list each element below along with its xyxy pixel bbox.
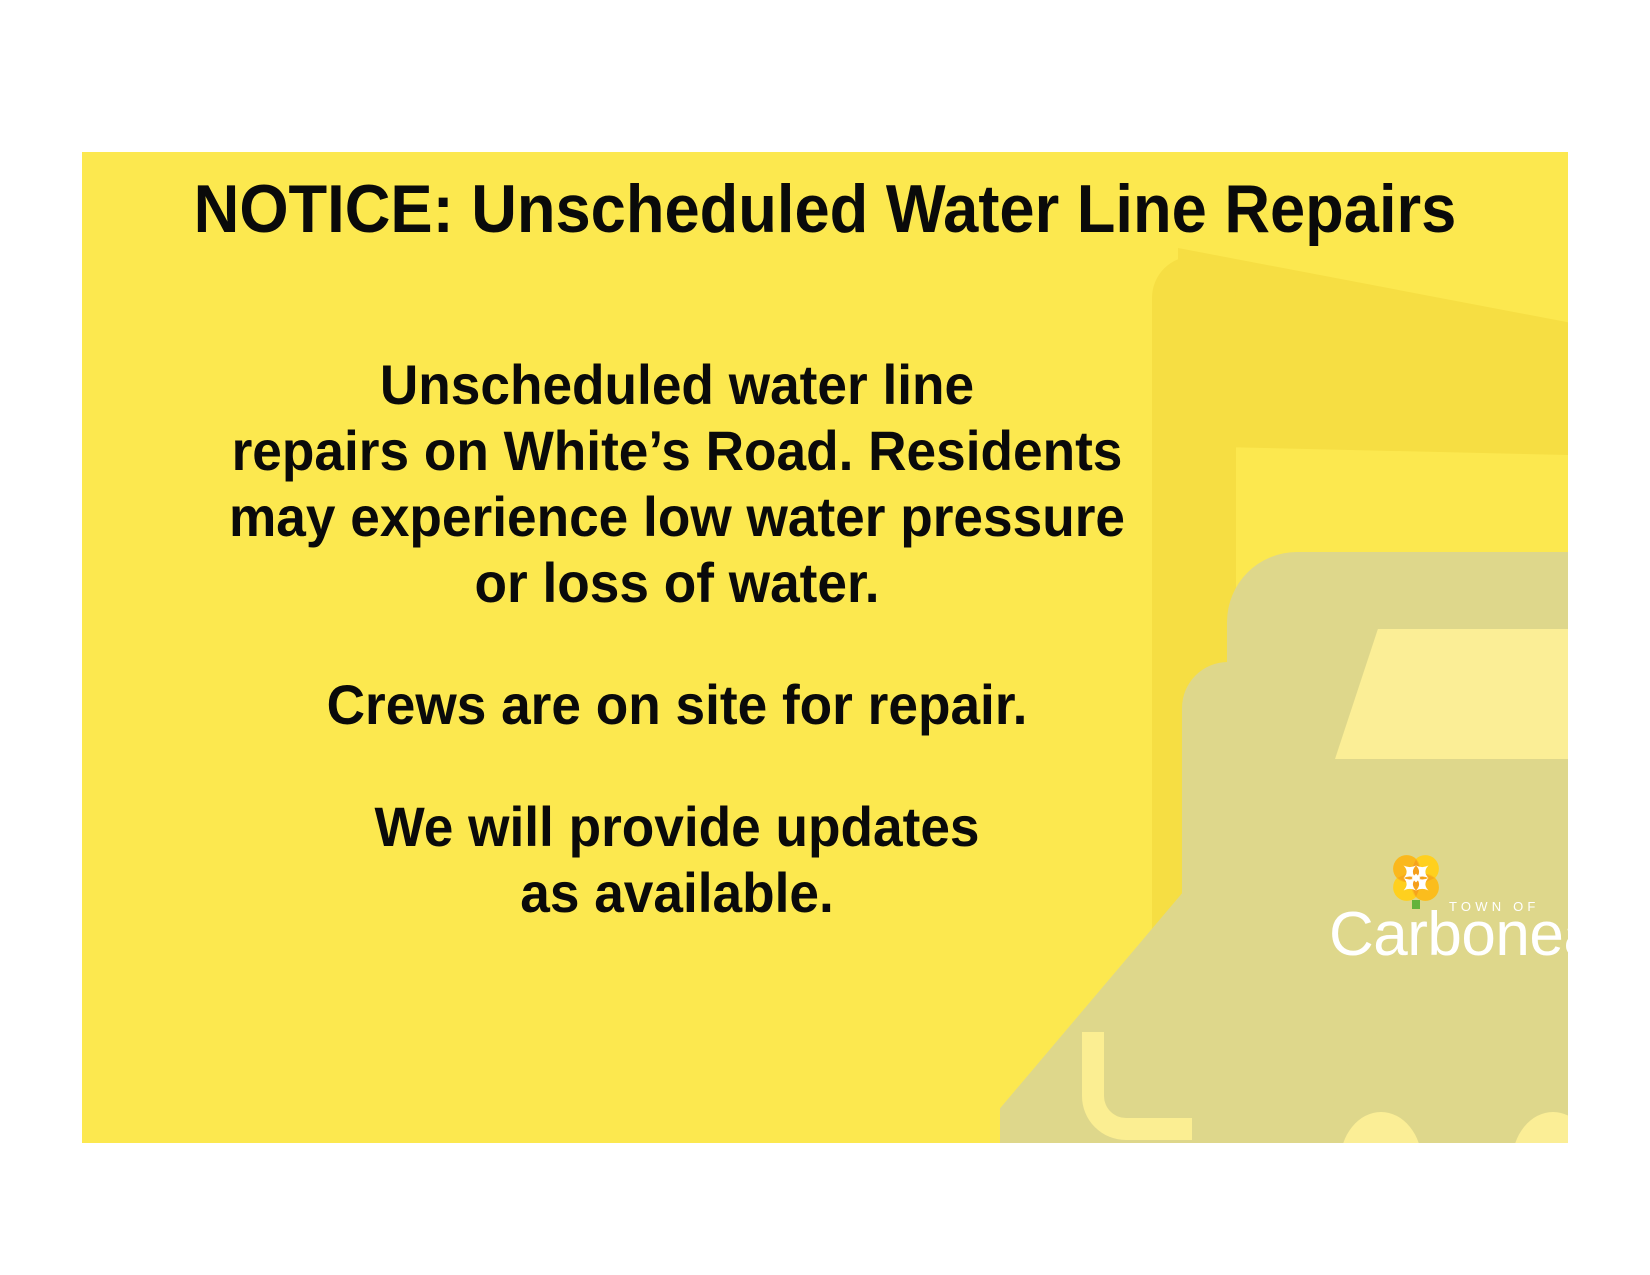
notice-card: TOWN OF Carbonear NOTICE: Unscheduled Wa… [82,152,1568,1143]
notice-line: Crews are on site for repair. [112,672,1243,738]
notice-paragraph-updates: We will provide updates as available. [112,794,1243,926]
poster-root: TOWN OF Carbonear NOTICE: Unscheduled Wa… [0,0,1650,1275]
notice-body: Unscheduled water line repairs on White’… [82,352,1272,927]
notice-line: Unscheduled water line [112,352,1243,418]
notice-title: NOTICE: Unscheduled Water Line Repairs [134,174,1516,245]
notice-line: as available. [112,860,1243,926]
notice-paragraph-crew-status: Crews are on site for repair. [112,672,1243,738]
notice-line: may experience low water pressure [112,484,1243,550]
notice-line: or loss of water. [112,550,1243,616]
notice-paragraph-repair-location: Unscheduled water line repairs on White’… [112,352,1243,616]
notice-line: repairs on White’s Road. Residents [112,418,1243,484]
notice-text-layer: NOTICE: Unscheduled Water Line Repairs U… [82,152,1568,1143]
notice-line: We will provide updates [112,794,1243,860]
